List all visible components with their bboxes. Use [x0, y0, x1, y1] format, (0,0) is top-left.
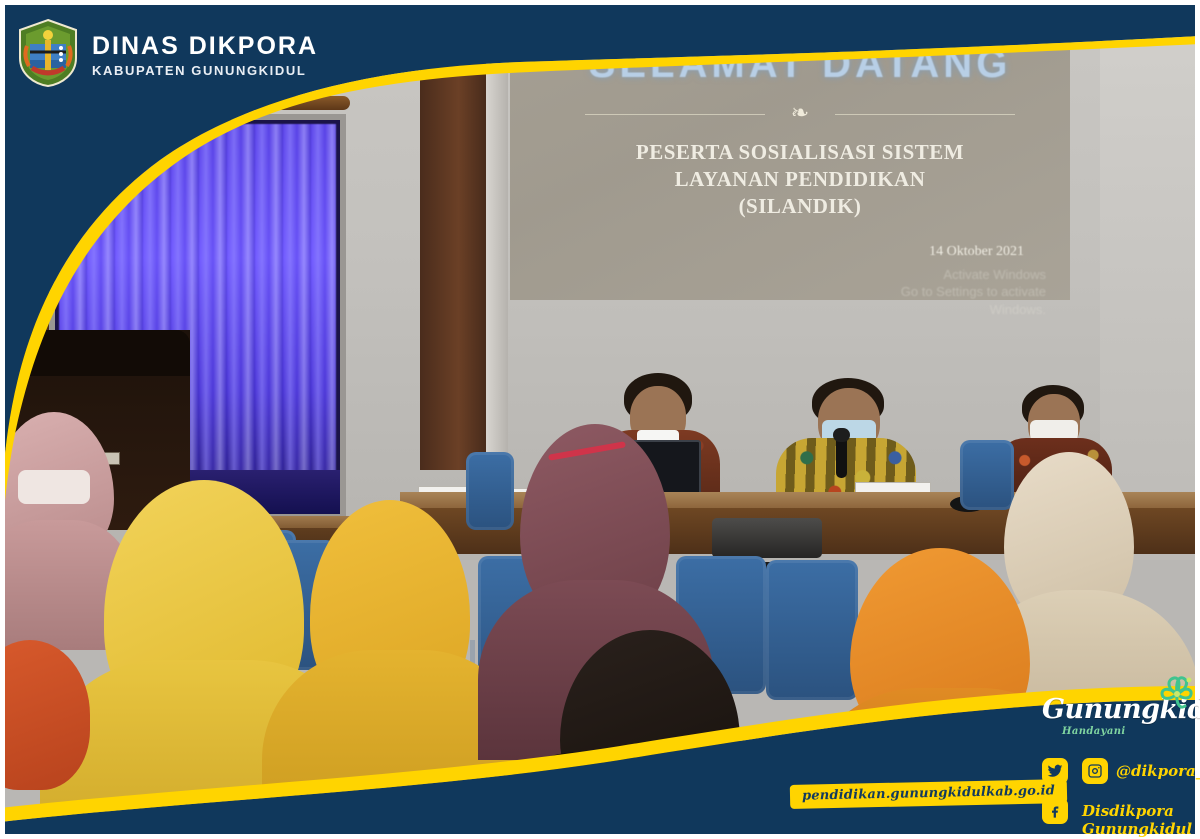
ornament-glyph: ❧	[791, 101, 809, 126]
chair	[766, 560, 858, 700]
room-wall-right	[1100, 0, 1200, 560]
wall-pillar	[486, 0, 508, 470]
slide-subtitle-line3: (SILANDIK)	[520, 193, 1080, 220]
social-handle[interactable]: @dikpora_gk	[1116, 762, 1200, 780]
podium-carving	[0, 330, 190, 376]
projector	[712, 518, 822, 558]
curtain-rod	[50, 96, 350, 110]
gunungkidul-regency-crest-icon	[16, 18, 80, 88]
projected-slide: SELAMAT DATANG ❧ PESERTA SOSIALISASI SIS…	[520, 0, 1080, 300]
facebook-f-icon[interactable]	[1042, 798, 1068, 824]
poster-frame: SELAMAT DATANG ❧ PESERTA SOSIALISASI SIS…	[0, 0, 1200, 839]
slide-subtitle-line2: LAYANAN PENDIDIKAN	[520, 166, 1080, 193]
event-photograph: SELAMAT DATANG ❧ PESERTA SOSIALISASI SIS…	[0, 0, 1200, 839]
twitter-bird-icon[interactable]	[1042, 758, 1068, 784]
audience-mask	[18, 470, 90, 504]
org-region: KABUPATEN GUNUNGKIDUL	[92, 64, 318, 77]
watermark-line3: Windows.	[520, 301, 1046, 319]
gunungkidul-brand-logo: Gunungkidul Handayani	[1042, 694, 1192, 744]
org-name: DINAS DIKPORA	[92, 34, 318, 59]
header-brand: DINAS DIKPORA KABUPATEN GUNUNGKIDUL	[16, 14, 436, 92]
flower-icon	[1156, 672, 1198, 714]
chair	[466, 452, 514, 530]
slide-subtitle-line1: PESERTA SOSIALISASI SISTEM	[520, 139, 1080, 166]
logo-tagline: Handayani	[1062, 726, 1192, 737]
slide-ornament-divider: ❧	[585, 103, 1015, 125]
chair	[960, 440, 1014, 510]
watermark-line2: Go to Settings to activate	[520, 283, 1046, 301]
slide-date: 14 Oktober 2021	[520, 244, 1080, 260]
slide-subtitle: PESERTA SOSIALISASI SISTEM LAYANAN PENDI…	[520, 139, 1080, 220]
windows-activation-watermark: Activate Windows Go to Settings to activ…	[520, 266, 1080, 319]
instagram-camera-icon[interactable]	[1082, 758, 1108, 784]
watermark-line1: Activate Windows	[520, 266, 1046, 284]
audience-head	[0, 640, 90, 790]
facebook-page-name[interactable]: Disdikpora Gunungkidul	[1082, 802, 1200, 838]
slide-title: SELAMAT DATANG	[520, 42, 1080, 87]
